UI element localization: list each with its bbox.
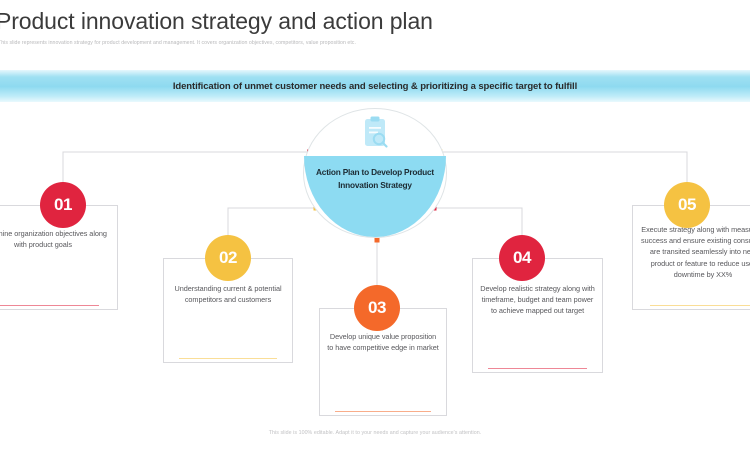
- step-text-04: Develop realistic strategy along with ti…: [479, 283, 596, 317]
- footer-note: This slide is 100% editable. Adapt it to…: [0, 430, 750, 436]
- step-accent-01: [0, 305, 99, 306]
- clipboard-search-icon: [360, 116, 390, 150]
- step-badge-05[interactable]: 05: [664, 182, 710, 228]
- step-text-03: Develop unique value proposition to have…: [326, 331, 440, 353]
- step-text-02: Understanding current & potential compet…: [170, 283, 286, 305]
- page-title: Product innovation strategy and action p…: [0, 8, 736, 35]
- step-accent-04: [488, 368, 586, 369]
- step-text-05: Execute strategy along with measuring su…: [639, 224, 750, 280]
- step-card-04[interactable]: Develop realistic strategy along with ti…: [472, 258, 603, 373]
- hub-label: Action Plan to Develop Product Innovatio…: [303, 166, 447, 192]
- page-subtitle: This slide represents innovation strateg…: [0, 40, 698, 46]
- center-hub[interactable]: Action Plan to Develop Product Innovatio…: [303, 108, 447, 238]
- step-text-01: Determine organization objectives along …: [0, 228, 111, 250]
- step-accent-05: [650, 305, 750, 306]
- step-badge-04[interactable]: 04: [499, 235, 545, 281]
- slide-canvas: Product innovation strategy and action p…: [0, 0, 750, 450]
- step-accent-03: [335, 411, 431, 412]
- step-badge-03[interactable]: 03: [354, 285, 400, 331]
- banner: Identification of unmet customer needs a…: [0, 70, 750, 102]
- step-badge-02[interactable]: 02: [205, 235, 251, 281]
- step-badge-01[interactable]: 01: [40, 182, 86, 228]
- banner-text: Identification of unmet customer needs a…: [173, 81, 577, 92]
- step-accent-02: [179, 358, 276, 359]
